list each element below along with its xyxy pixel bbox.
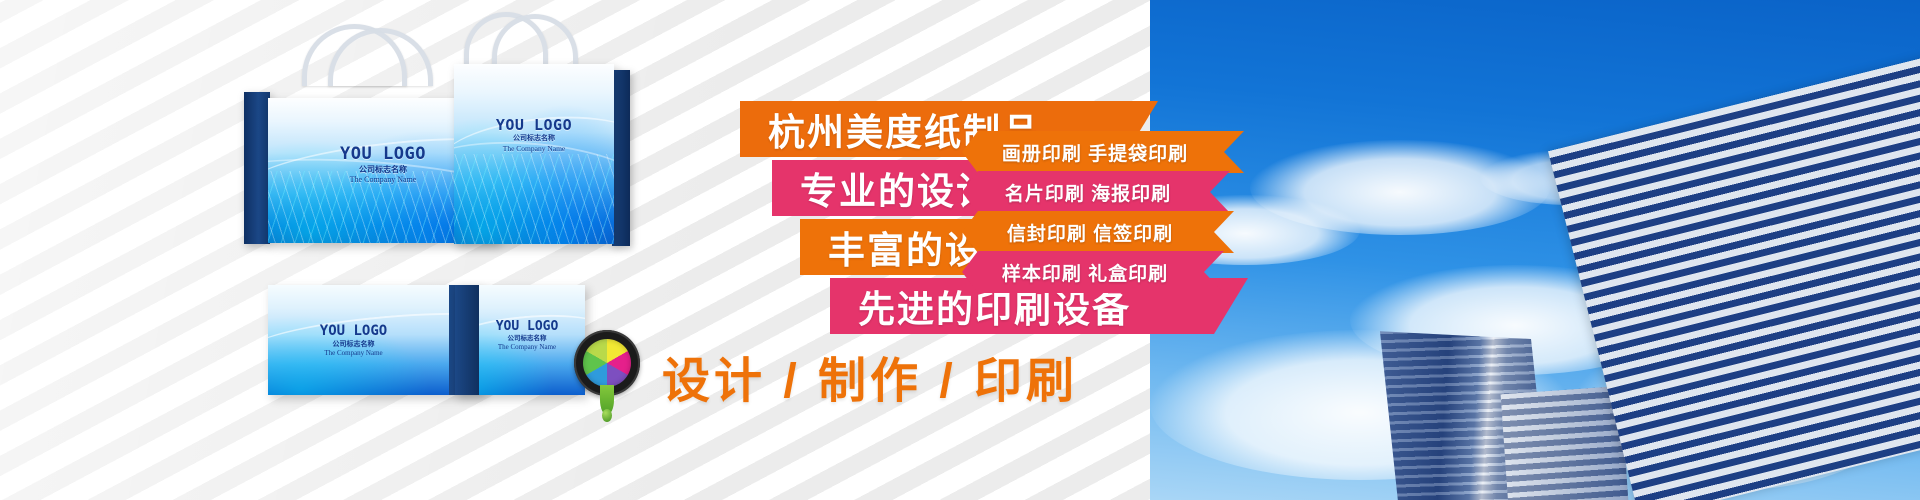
service-tag-2[interactable]: 名片印刷 海报印刷 [962, 171, 1230, 213]
sky-buildings-photo [1150, 0, 1920, 500]
service-tag-3[interactable]: 信封印刷 信签印刷 [962, 211, 1234, 253]
service-tag-4[interactable]: 样本印刷 礼盒印刷 [962, 251, 1224, 293]
logo-line-2: 公司标志名称 [469, 335, 585, 343]
logo-line-2: 公司标志名称 [268, 341, 461, 350]
logo-line-1: YOU LOGO [268, 323, 461, 341]
logo-line-1: YOU LOGO [469, 319, 585, 335]
card-logo-block: YOU LOGO 公司标志名称 The Company Name [268, 323, 461, 358]
card-logo-block: YOU LOGO 公司标志名称 The Company Name [469, 319, 585, 352]
bag-side-panel [244, 92, 270, 244]
cloud-icon [1250, 140, 1550, 235]
logo-line-3: The Company Name [454, 144, 614, 153]
slogan-row: 设计 / 制作 / 印刷 [574, 330, 1078, 422]
slogan-text: 设计 / 制作 / 印刷 [662, 341, 1078, 411]
promo-banner: YOU LOGO 公司标志名称 The Company Name YOU LOG… [0, 0, 1920, 500]
light-streaks-decoration [454, 154, 614, 244]
service-tag-1[interactable]: 画册印刷 手提袋印刷 [962, 131, 1244, 173]
paper-bag-mockup-tall: YOU LOGO 公司标志名称 The Company Name [440, 8, 640, 248]
brochure-mockup-left: YOU LOGO 公司标志名称 The Company Name [268, 285, 483, 395]
color-wheel-icon [574, 330, 640, 422]
brochure-mockup-right: YOU LOGO 公司标志名称 The Company Name [455, 285, 585, 395]
bag-side-panel [612, 70, 630, 246]
logo-line-3: The Company Name [469, 343, 585, 352]
bag-logo-block: YOU LOGO 公司标志名称 The Company Name [454, 116, 614, 153]
logo-line-1: YOU LOGO [454, 116, 614, 135]
logo-line-3: The Company Name [268, 349, 461, 358]
bag-front-panel: YOU LOGO 公司标志名称 The Company Name [454, 64, 614, 244]
paint-drip-icon [600, 385, 614, 415]
color-wheel-segments [583, 339, 631, 387]
logo-line-2: 公司标志名称 [454, 135, 614, 144]
